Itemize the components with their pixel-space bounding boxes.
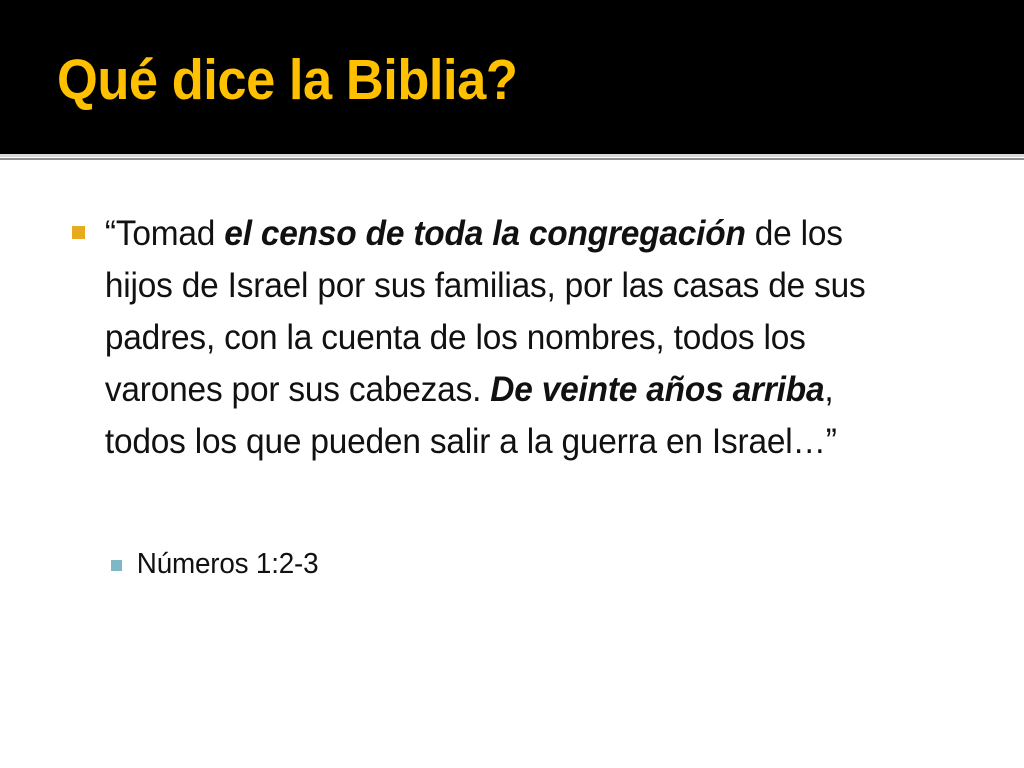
quote-segment-1: “Tomad	[105, 214, 224, 253]
title-band: Qué dice la Biblia?	[0, 0, 1024, 154]
scripture-quote-text: “Tomad el censo de toda la congregación …	[60, 208, 912, 468]
slide-body: “Tomad el censo de toda la congregación …	[0, 160, 1024, 768]
list-item: “Tomad el censo de toda la congregación …	[60, 208, 960, 468]
page-title: Qué dice la Biblia?	[57, 49, 517, 111]
list-item-sub: Números 1:2-3	[60, 544, 960, 584]
quote-segment-emphasis-2: De veinte años arriba	[490, 370, 824, 409]
scripture-reference-text: Números 1:2-3	[60, 544, 924, 584]
title-band-left-edge	[0, 0, 2, 154]
quote-segment-emphasis-1: el censo de toda la congregación	[224, 214, 745, 253]
presentation-slide: Qué dice la Biblia? “Tomad el censo de t…	[0, 0, 1024, 768]
